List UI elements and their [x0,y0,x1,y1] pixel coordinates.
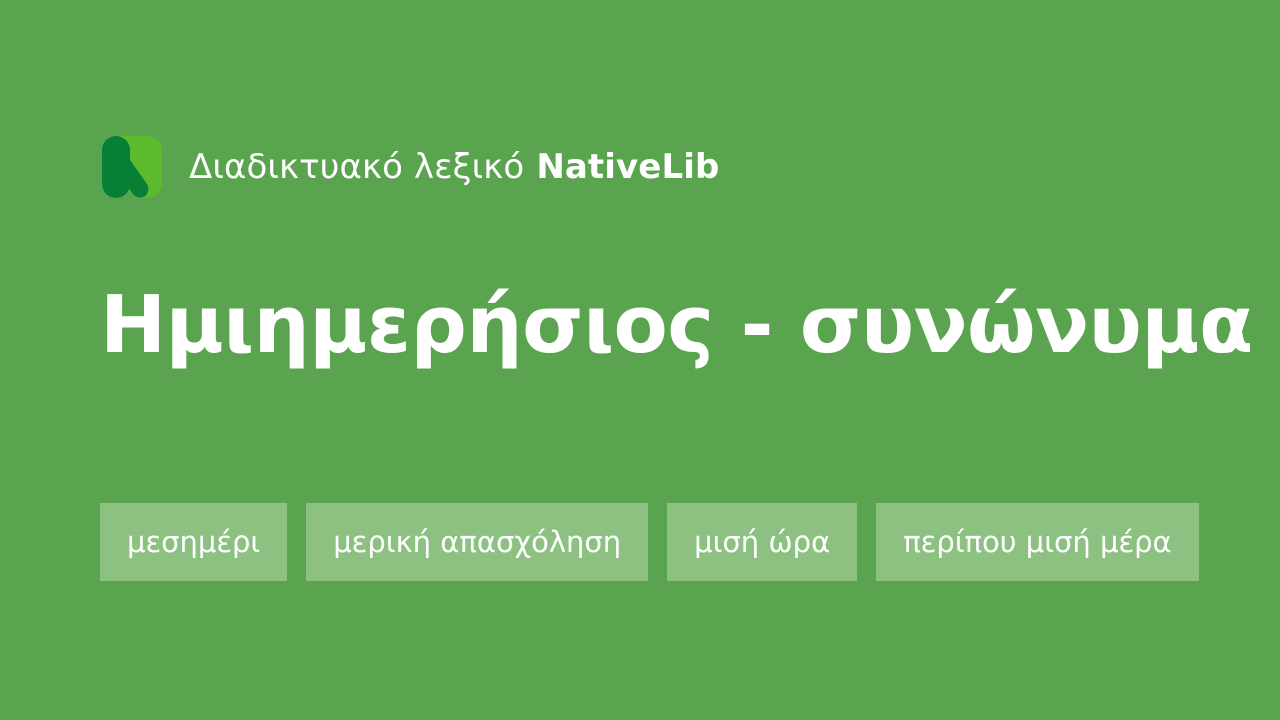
brand-tagline: Διαδικτυακό λεξικό [189,150,524,184]
synonym-chip[interactable]: περίπου μισή μέρα [876,503,1198,581]
synonym-chip[interactable]: μεσημέρι [100,503,287,581]
synonym-chip[interactable]: μισή ώρα [667,503,857,581]
brand-header[interactable]: Διαδικτυακό λεξικό NativeLib [100,136,719,198]
nativelib-n-logo-icon [100,136,164,198]
synonym-chip-list: μεσημέρι μερική απασχόληση μισή ώρα περί… [100,503,1260,581]
brand-text: Διαδικτυακό λεξικό NativeLib [189,150,719,184]
page-title: Ημιημερήσιος - συνώνυμα [100,286,1200,365]
brand-name: NativeLib [536,150,719,184]
page-root: Διαδικτυακό λεξικό NativeLib Ημιημερήσιο… [0,0,1280,720]
synonym-chip[interactable]: μερική απασχόληση [306,503,648,581]
